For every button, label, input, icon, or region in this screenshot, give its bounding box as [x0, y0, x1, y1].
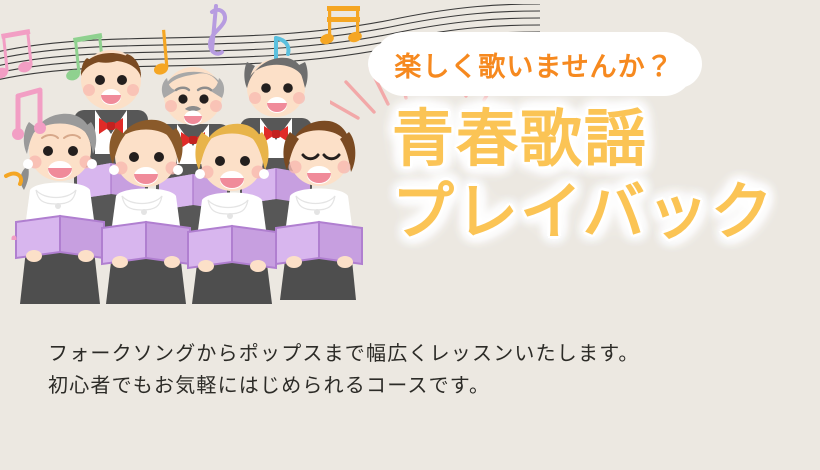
description-block: フォークソングからポップスまで幅広くレッスンいたします。 初心者でもお気軽にはじ…: [48, 338, 640, 403]
note-pink-left: [12, 90, 46, 140]
description-line-2: 初心者でもお気軽にはじめられるコースです。: [48, 370, 640, 402]
page-title: 青春歌謡 プレイバック: [392, 108, 812, 244]
description-line-1: フォークソングからポップスまで幅広くレッスンいたします。: [48, 338, 640, 370]
choir-member-front-3: [192, 124, 272, 304]
catchcopy-text: 楽しく歌いませんか？: [378, 36, 690, 92]
poster-canvas: 楽しく歌いませんか？ 青春歌謡 プレイバック フォークソングからポップスまで幅広…: [0, 0, 820, 470]
choir-member-front-4: [280, 121, 356, 300]
note-orange-left: [6, 174, 21, 184]
title-line-1: 青春歌謡: [392, 108, 812, 171]
title-line-2: プレイバック: [392, 181, 812, 244]
floating-notes: [0, 60, 120, 240]
